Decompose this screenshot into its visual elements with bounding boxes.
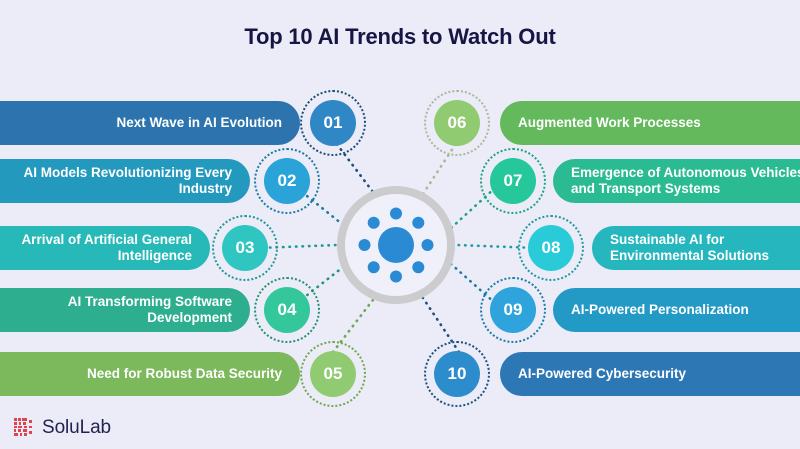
badge-number: 10 <box>448 364 467 384</box>
badge-number: 04 <box>278 300 297 320</box>
badge-number: 08 <box>542 238 561 258</box>
trend-number-badge-10[interactable]: 10 <box>434 351 480 397</box>
badge-number: 05 <box>324 364 343 384</box>
ai-network-hub-icon <box>337 186 455 304</box>
trend-number-badge-05[interactable]: 05 <box>310 351 356 397</box>
badge-number: 06 <box>448 113 467 133</box>
badge-number: 09 <box>504 300 523 320</box>
trend-number-badge-02[interactable]: 02 <box>264 158 310 204</box>
trend-number-badge-04[interactable]: 04 <box>264 287 310 333</box>
trend-number-badge-06[interactable]: 06 <box>434 100 480 146</box>
badge-number: 03 <box>236 238 255 258</box>
trend-number-badge-03[interactable]: 03 <box>222 225 268 271</box>
badge-number: 01 <box>324 113 343 133</box>
badge-number: 02 <box>278 171 297 191</box>
trend-number-badge-07[interactable]: 07 <box>490 158 536 204</box>
trend-number-badge-09[interactable]: 09 <box>490 287 536 333</box>
center-hub <box>337 186 455 304</box>
badge-number: 07 <box>504 171 523 191</box>
trend-number-badge-01[interactable]: 01 <box>310 100 356 146</box>
trend-number-badge-08[interactable]: 08 <box>528 225 574 271</box>
